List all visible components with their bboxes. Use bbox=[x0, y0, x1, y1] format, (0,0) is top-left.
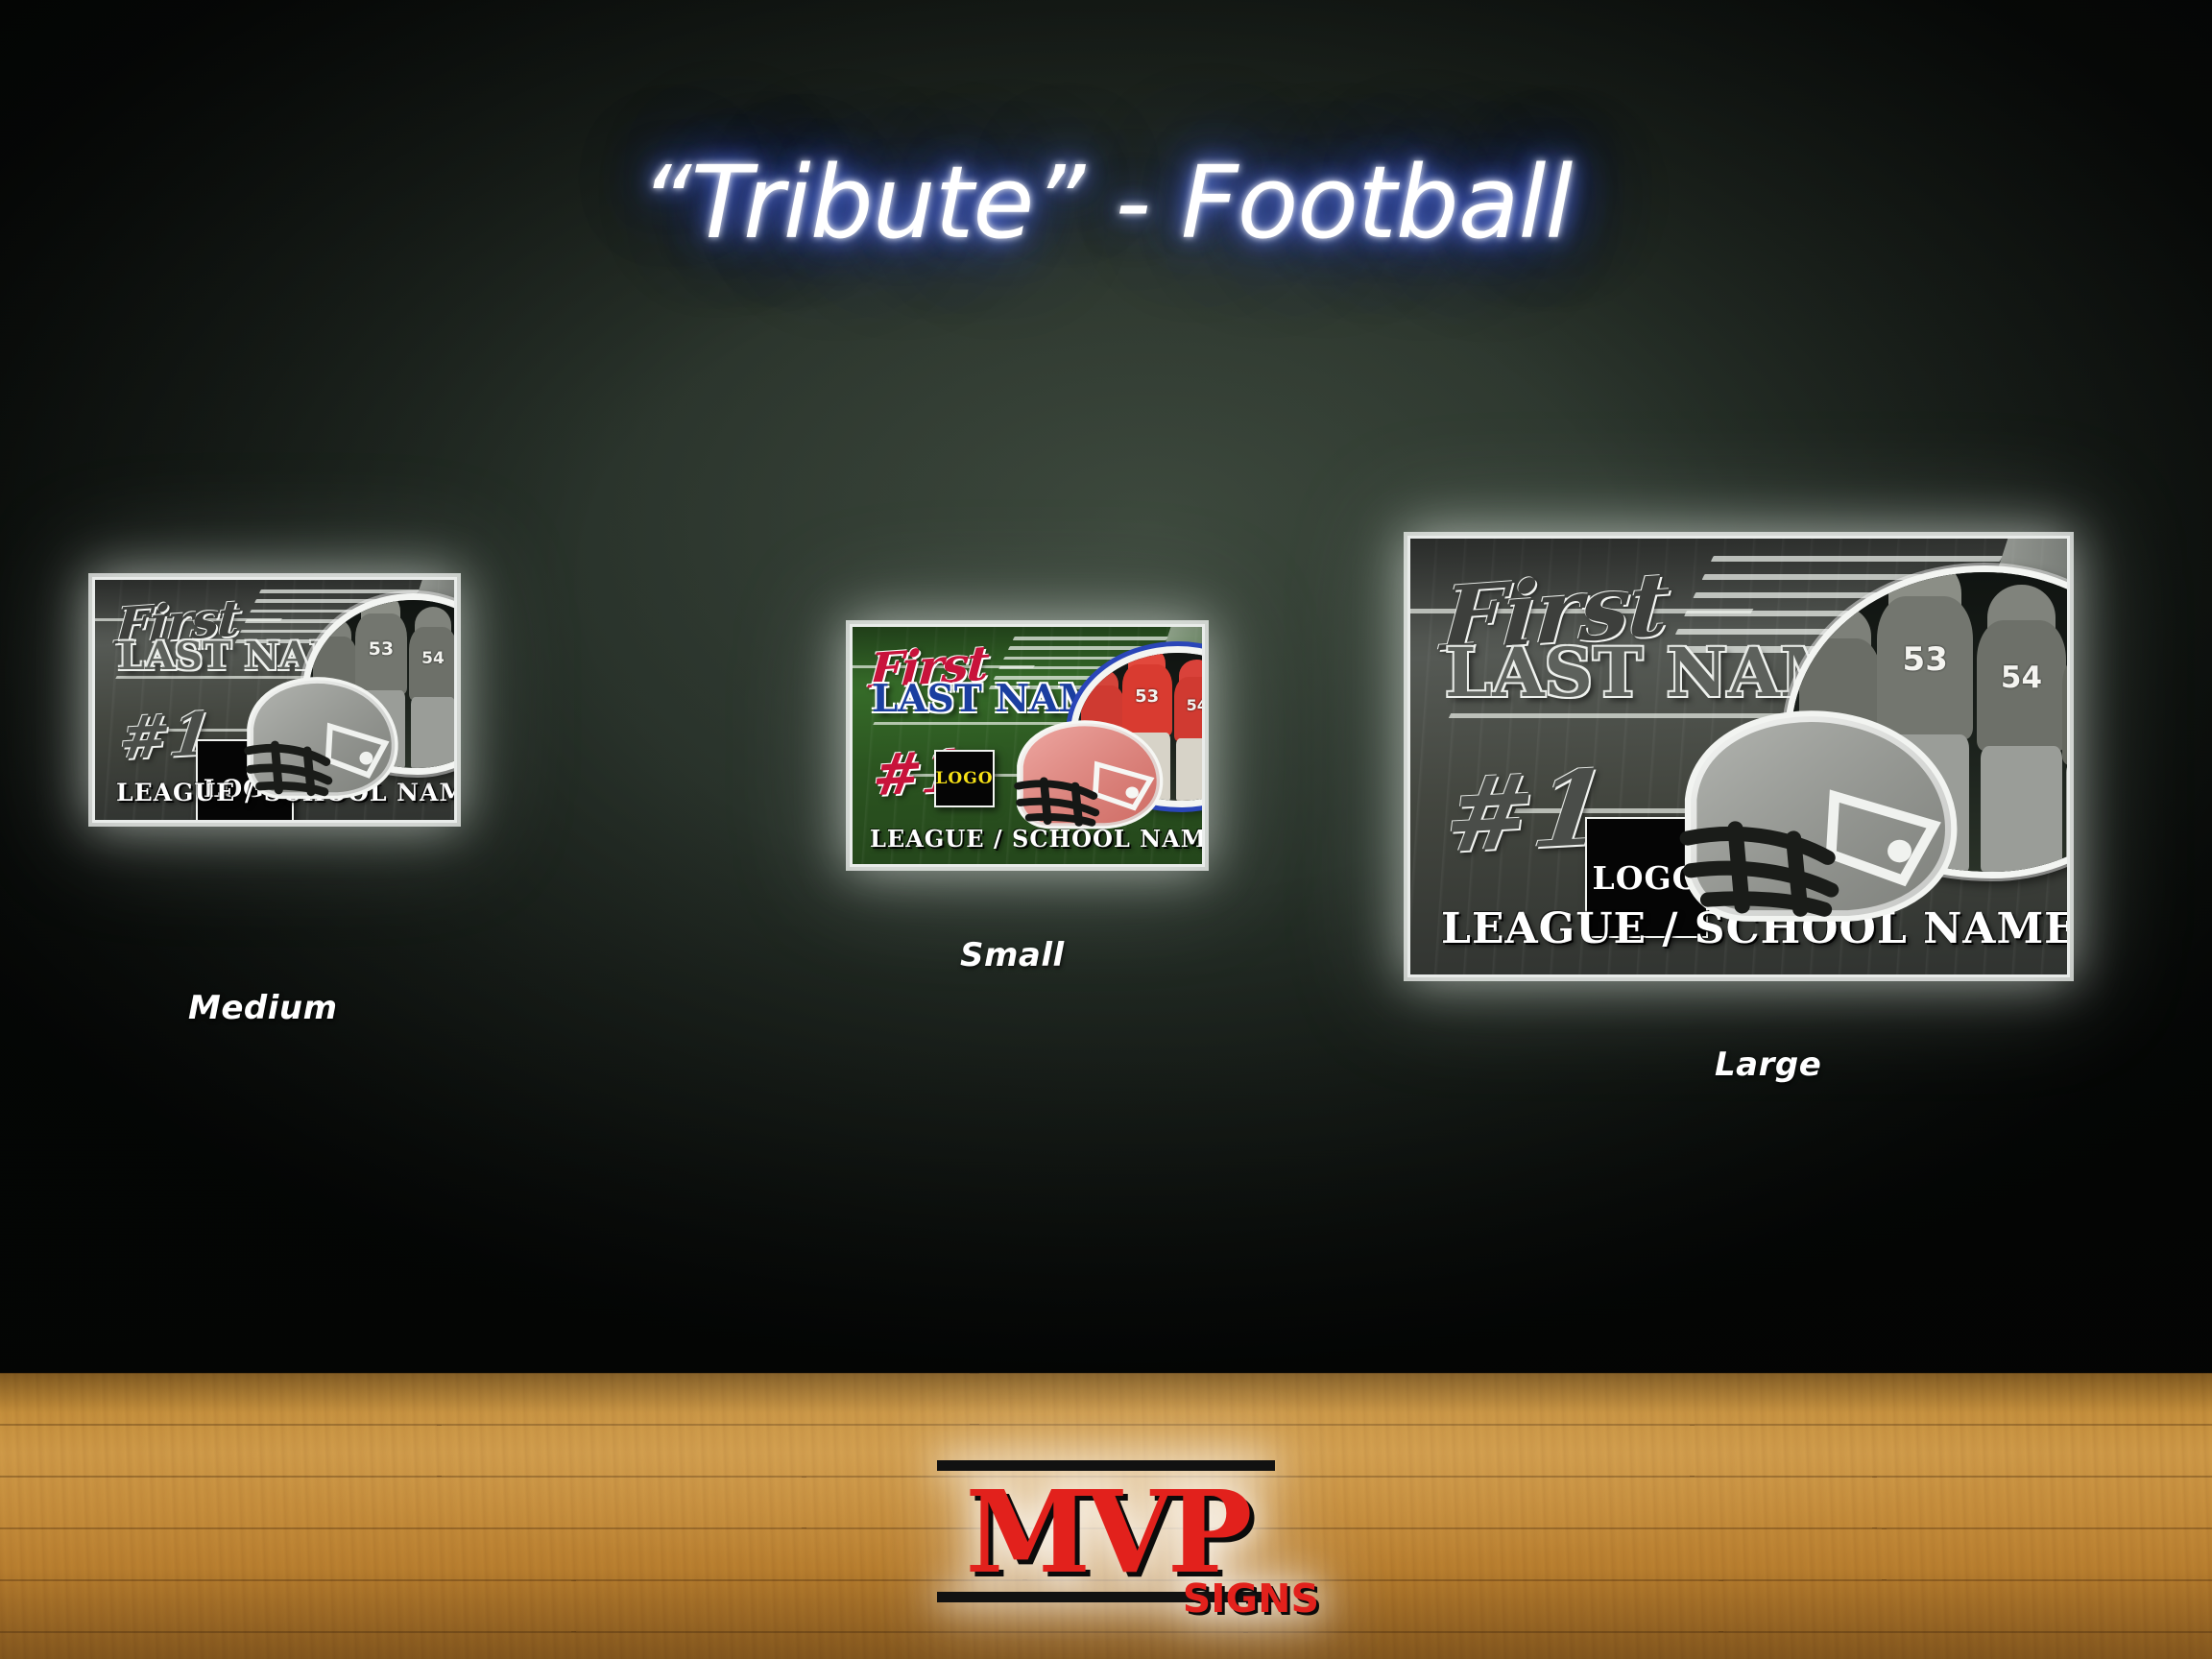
sign-medium[interactable]: First LAST NAME #1 LOGO LEAGUE / SCHOOL … bbox=[92, 577, 457, 823]
brand-name: MVP bbox=[966, 1475, 1247, 1590]
sign-medium-helmet-photo-cluster: 53 54 26 bbox=[228, 593, 457, 820]
sign-large[interactable]: First LAST NAME #1 LOGO LEAGUE / SCHOOL … bbox=[1407, 536, 2070, 977]
photo-jersey-number: 53 bbox=[355, 638, 407, 660]
photo-jersey-number: 26 bbox=[2062, 685, 2070, 709]
sign-large-plate: First LAST NAME #1 LOGO LEAGUE / SCHOOL … bbox=[1407, 536, 2070, 977]
page-title: “Tribute” - Football bbox=[0, 144, 2212, 261]
slide-canvas: “Tribute” - Football First LAST NAME #1 … bbox=[0, 0, 2212, 1659]
mvp-signs-logo[interactable]: MVP SIGNS bbox=[904, 1450, 1308, 1632]
size-label-medium: Medium bbox=[188, 989, 338, 1027]
sign-small-logo-label: LOGO bbox=[935, 769, 993, 788]
size-label-small: Small bbox=[960, 936, 1065, 974]
size-label-large: Large bbox=[1715, 1046, 1821, 1084]
sign-medium-helmet-icon bbox=[216, 670, 406, 810]
brand-tagline-row: SIGNS bbox=[937, 1604, 1275, 1622]
photo-jersey-number: 26 bbox=[455, 663, 457, 677]
sign-large-helmet-icon bbox=[1629, 699, 1971, 942]
photo-jersey-number: 53 bbox=[1877, 640, 1973, 679]
photo-jersey-number: 54 bbox=[409, 649, 457, 668]
sign-small[interactable]: First LAST NAME #1 LOGO LEAGUE / SCHOOL … bbox=[850, 624, 1205, 867]
sign-small-helmet-icon bbox=[987, 714, 1170, 839]
sign-small-logo-box[interactable]: LOGO bbox=[934, 750, 995, 807]
sign-small-plate: First LAST NAME #1 LOGO LEAGUE / SCHOOL … bbox=[850, 624, 1205, 867]
photo-jersey-number: 54 bbox=[1174, 696, 1205, 714]
photo-jersey-number: 54 bbox=[1977, 661, 2066, 695]
sign-small-helmet-photo-cluster: 53 54 26 bbox=[998, 646, 1205, 848]
sign-medium-plate: First LAST NAME #1 LOGO LEAGUE / SCHOOL … bbox=[92, 577, 457, 823]
sign-large-helmet-photo-cluster: 53 54 26 bbox=[1650, 565, 2070, 957]
brand-tagline: SIGNS bbox=[1183, 1575, 1319, 1622]
photo-jersey-number: 53 bbox=[1122, 686, 1172, 707]
